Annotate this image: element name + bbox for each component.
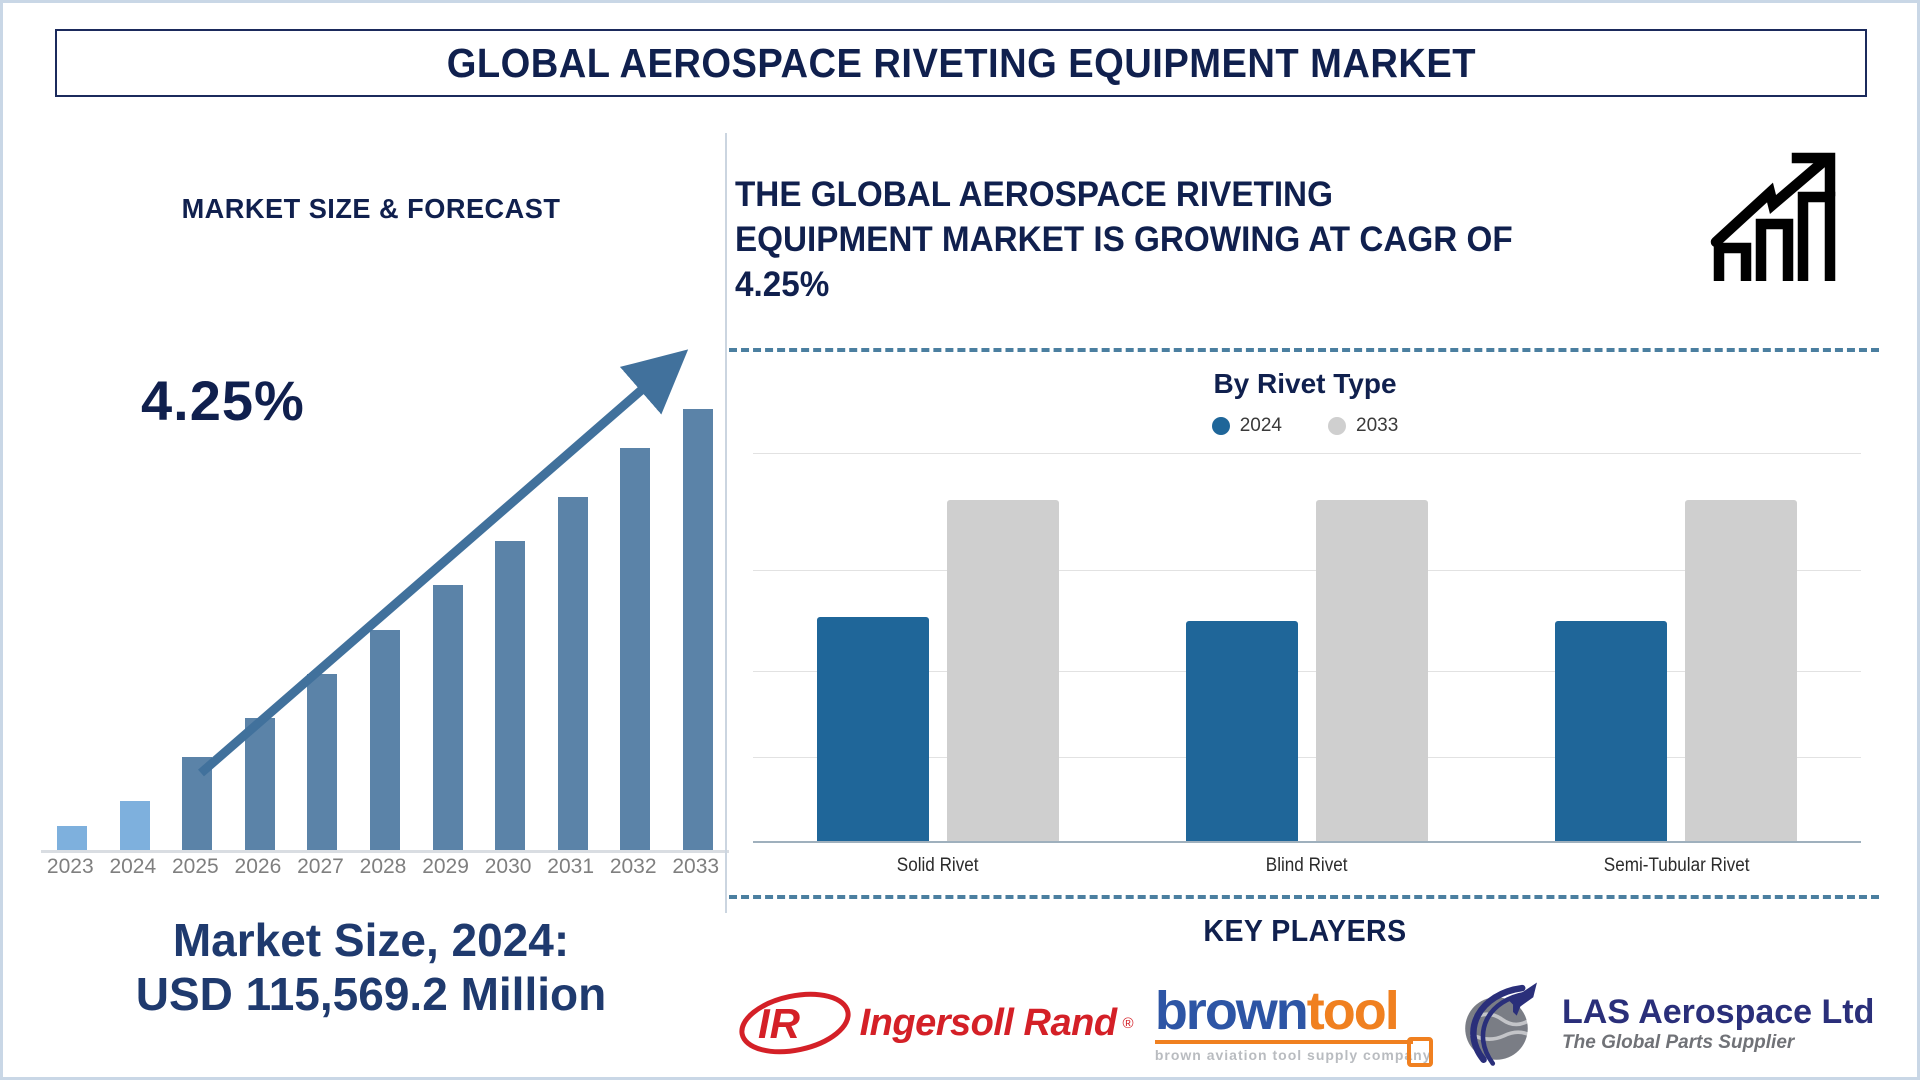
rivet-bars — [753, 453, 1861, 843]
forecast-bars — [41, 360, 729, 850]
legend-swatch-icon — [1212, 417, 1230, 435]
browntool-wordmark: browntool — [1155, 984, 1435, 1038]
forecast-year-label: 2031 — [539, 855, 602, 879]
browntool-part-brown: brown — [1155, 981, 1307, 1041]
legend-item: 2024 — [1212, 415, 1282, 437]
logo-ingersoll-rand: IR Ingersoll Rand ® — [736, 990, 1134, 1056]
forecast-year-label: 2028 — [352, 855, 415, 879]
forecast-bar-slot — [104, 360, 167, 850]
forecast-bar — [245, 718, 275, 850]
browntool-part-tool: tool — [1307, 981, 1398, 1041]
rivet-axis-line — [753, 841, 1861, 843]
forecast-bar — [370, 630, 400, 851]
chart-legend: 20242033 — [725, 415, 1885, 437]
rivet-bar — [1685, 500, 1797, 843]
forecast-bar-slot — [479, 360, 542, 850]
legend-label: 2033 — [1356, 415, 1398, 437]
forecast-axis-line — [41, 850, 729, 853]
forecast-year-labels: 2023202420252026202720282029203020312032… — [39, 855, 727, 879]
market-size-value: Market Size, 2024: USD 115,569.2 Million — [21, 913, 721, 1022]
forecast-bar-slot — [604, 360, 667, 850]
browntool-tagline: brown aviation tool supply company — [1155, 1047, 1435, 1063]
forecast-year-label: 2030 — [477, 855, 540, 879]
rivet-bar — [1186, 621, 1298, 843]
rivet-category-label: Solid Rivet — [771, 855, 1103, 877]
rivet-bar — [947, 500, 1059, 843]
legend-item: 2033 — [1328, 415, 1398, 437]
market-size-line-1: Market Size, 2024: — [21, 913, 721, 967]
globe-airplane-icon — [1456, 977, 1548, 1069]
rivet-category-label: Blind Rivet — [1141, 855, 1473, 877]
dashed-divider-top — [729, 348, 1879, 352]
forecast-year-label: 2029 — [414, 855, 477, 879]
rivet-bar — [1555, 621, 1667, 843]
market-size-heading: MARKET SIZE & FORECAST — [32, 193, 711, 225]
rivet-bar-group — [1122, 453, 1491, 843]
rivet-bar — [1316, 500, 1428, 843]
legend-label: 2024 — [1240, 415, 1282, 437]
rivet-category-label: Semi-Tubular Rivet — [1510, 855, 1842, 877]
browntool-square-icon — [1407, 1037, 1433, 1067]
main-title-box: GLOBAL AEROSPACE RIVETING EQUIPMENT MARK… — [55, 29, 1867, 97]
forecast-bar — [495, 541, 525, 850]
forecast-bar — [433, 585, 463, 850]
forecast-bar — [120, 801, 150, 850]
forecast-bar — [307, 674, 337, 850]
legend-swatch-icon — [1328, 417, 1346, 435]
forecast-year-label: 2026 — [227, 855, 290, 879]
forecast-year-label: 2032 — [602, 855, 665, 879]
forecast-bar-slot — [166, 360, 229, 850]
key-players-title: KEY PLAYERS — [771, 913, 1838, 949]
forecast-bar — [683, 409, 713, 850]
headline-text: THE GLOBAL AEROSPACE RIVETING EQUIPMENT … — [735, 173, 1514, 307]
forecast-bar — [620, 448, 650, 850]
las-aerospace-name: LAS Aerospace Ltd — [1562, 993, 1874, 1032]
svg-text:IR: IR — [758, 1000, 801, 1047]
forecast-year-label: 2027 — [289, 855, 352, 879]
forecast-bar-slot — [41, 360, 104, 850]
forecast-year-label: 2023 — [39, 855, 102, 879]
forecast-year-label: 2024 — [102, 855, 165, 879]
forecast-bar-slot — [666, 360, 729, 850]
forecast-year-label: 2025 — [164, 855, 227, 879]
by-rivet-type-chart — [753, 453, 1861, 843]
market-size-forecast-chart — [41, 343, 729, 853]
dashed-divider-bottom — [729, 895, 1879, 899]
left-panel: MARKET SIZE & FORECAST 4.25% 20232024202… — [21, 133, 721, 1063]
rivet-category-labels: Solid RivetBlind RivetSemi-Tubular Rivet — [753, 855, 1861, 877]
rivet-bar-group — [1492, 453, 1861, 843]
forecast-bar — [558, 497, 588, 850]
forecast-bar — [182, 757, 212, 850]
forecast-bar — [57, 826, 87, 851]
market-size-line-2: USD 115,569.2 Million — [21, 967, 721, 1021]
registered-mark-icon: ® — [1123, 1015, 1134, 1032]
forecast-bar-slot — [229, 360, 292, 850]
forecast-bar-slot — [354, 360, 417, 850]
logo-las-aerospace: LAS Aerospace Ltd The Global Parts Suppl… — [1456, 977, 1874, 1069]
forecast-year-label: 2033 — [664, 855, 727, 879]
ingersoll-rand-wordmark: Ingersoll Rand — [860, 1002, 1117, 1045]
rivet-bar — [817, 617, 929, 843]
infographic-page: GLOBAL AEROSPACE RIVETING EQUIPMENT MARK… — [0, 0, 1920, 1080]
forecast-bar-slot — [416, 360, 479, 850]
forecast-bar-slot — [291, 360, 354, 850]
ingersoll-rand-mark-icon: IR — [736, 990, 854, 1056]
segment-title: By Rivet Type — [725, 368, 1885, 400]
growth-chart-icon — [1707, 143, 1857, 293]
rivet-bar-group — [753, 453, 1122, 843]
right-panel: THE GLOBAL AEROSPACE RIVETING EQUIPMENT … — [725, 133, 1885, 1073]
forecast-bar-slot — [541, 360, 604, 850]
las-aerospace-tagline: The Global Parts Supplier — [1562, 1032, 1874, 1054]
logo-browntool: browntool brown aviation tool supply com… — [1155, 984, 1435, 1063]
page-title: GLOBAL AEROSPACE RIVETING EQUIPMENT MARK… — [446, 40, 1475, 87]
key-players-logos: IR Ingersoll Rand ® browntool brown avia… — [725, 963, 1885, 1080]
